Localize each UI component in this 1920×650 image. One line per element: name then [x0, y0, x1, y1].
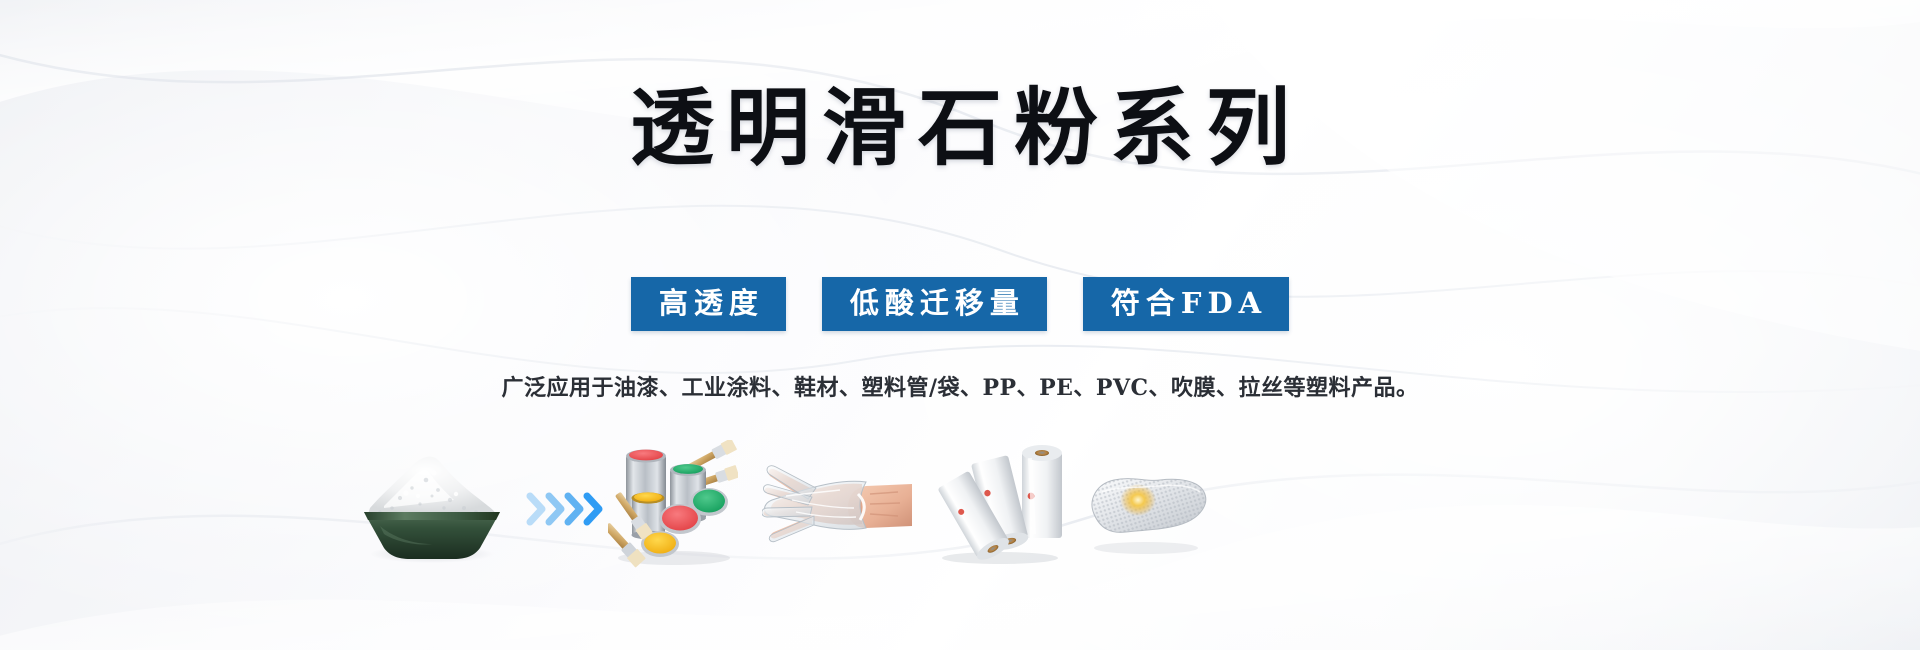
- feature-badge-list: 高透度 低酸迁移量 符合FDA: [0, 277, 1920, 331]
- feature-badge-fda-compliant[interactable]: 符合FDA: [1083, 277, 1289, 331]
- plastic-film-rolls-image: [930, 444, 1070, 564]
- product-image-strip: [0, 428, 1920, 608]
- shoe-sole-image: [1080, 458, 1210, 556]
- product-banner: 透明滑石粉系列 高透度 低酸迁移量 符合FDA 广泛应用于油漆、工业涂料、鞋材、…: [0, 0, 1920, 650]
- page-title: 透明滑石粉系列: [0, 86, 1920, 170]
- applications-subtitle: 广泛应用于油漆、工业涂料、鞋材、塑料管/袋、PP、PE、PVC、吹膜、拉丝等塑料…: [0, 374, 1920, 403]
- process-arrows-icon: [524, 486, 614, 532]
- plastic-glove-hand-image: [762, 450, 912, 556]
- talc-powder-bowl-image: [340, 446, 520, 566]
- paint-cans-image: [608, 440, 738, 568]
- feature-badge-low-acid-migration[interactable]: 低酸迁移量: [822, 277, 1047, 331]
- feature-badge-high-transparency[interactable]: 高透度: [631, 277, 786, 331]
